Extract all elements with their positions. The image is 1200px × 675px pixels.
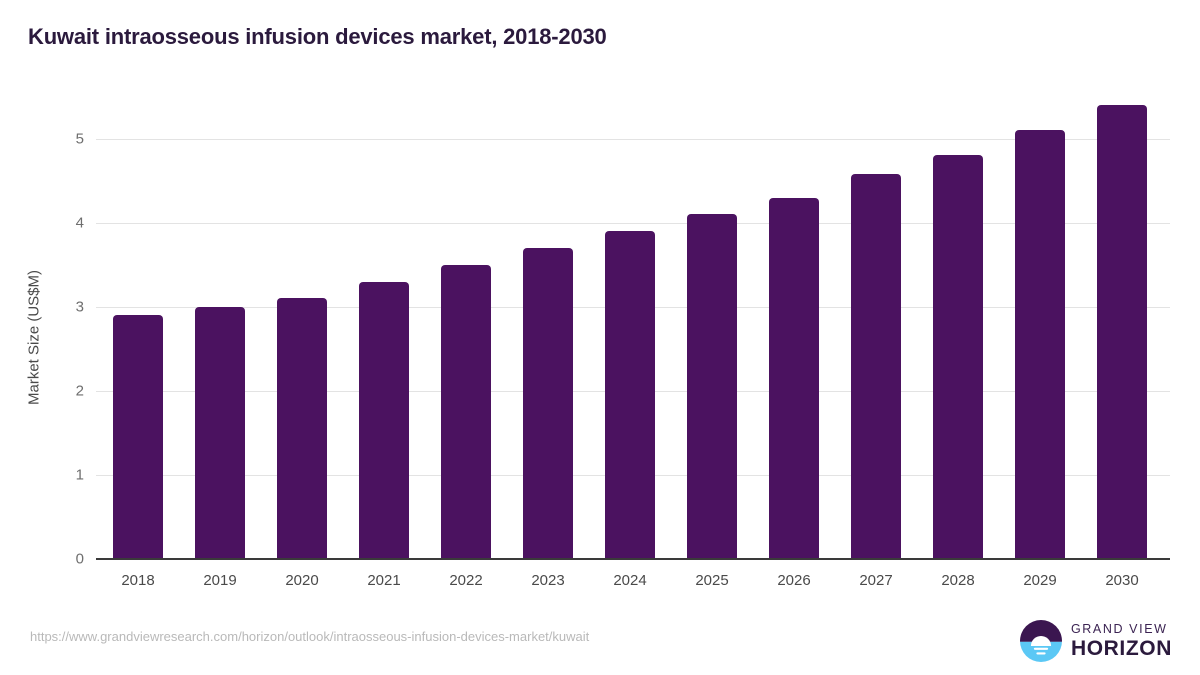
bar-2024[interactable]: [605, 231, 655, 559]
y-axis-tick-label: 1: [44, 466, 84, 483]
x-axis-tick-label-2018: 2018: [97, 572, 179, 589]
y-axis-tick-label: 2: [44, 382, 84, 399]
x-axis-tick-label-2029: 2029: [999, 572, 1081, 589]
grand-view-horizon-logo-icon: [1020, 620, 1062, 662]
bar-2020[interactable]: [277, 298, 327, 559]
x-axis-tick-label-2030: 2030: [1081, 572, 1163, 589]
x-axis-tick-label-2028: 2028: [917, 572, 999, 589]
x-axis-line: [96, 558, 1170, 560]
chart-page: Kuwait intraosseous infusion devices mar…: [0, 0, 1200, 675]
bar-2026[interactable]: [769, 198, 819, 559]
y-axis-tick-labels: 012345: [36, 100, 84, 559]
y-axis-tick-label: 3: [44, 298, 84, 315]
bar-2021[interactable]: [359, 282, 409, 559]
x-axis-tick-label-2025: 2025: [671, 572, 753, 589]
bar-2028[interactable]: [933, 155, 983, 559]
gridline: [96, 223, 1170, 224]
y-axis-tick-label: 5: [44, 130, 84, 147]
bar-2023[interactable]: [523, 248, 573, 559]
source-url[interactable]: https://www.grandviewresearch.com/horizo…: [30, 629, 589, 644]
x-axis-tick-label-2027: 2027: [835, 572, 917, 589]
y-axis-tick-label: 4: [44, 214, 84, 231]
bar-2030[interactable]: [1097, 105, 1147, 559]
x-axis-tick-label-2026: 2026: [753, 572, 835, 589]
bar-2018[interactable]: [113, 315, 163, 559]
y-axis-tick-label: 0: [44, 551, 84, 568]
x-axis-tick-label-2024: 2024: [589, 572, 671, 589]
bar-2027[interactable]: [851, 174, 901, 559]
bar-2019[interactable]: [195, 307, 245, 559]
gridline: [96, 139, 1170, 140]
logo-line-1: GRAND VIEW: [1071, 623, 1172, 636]
x-axis-tick-label-2021: 2021: [343, 572, 425, 589]
plot-area: [96, 100, 1170, 559]
x-axis-tick-label-2022: 2022: [425, 572, 507, 589]
bar-2029[interactable]: [1015, 130, 1065, 559]
bar-2025[interactable]: [687, 214, 737, 559]
x-axis-tick-label-2020: 2020: [261, 572, 343, 589]
logo-line-2: HORIZON: [1071, 638, 1172, 659]
x-axis-tick-label-2023: 2023: [507, 572, 589, 589]
brand-logo[interactable]: GRAND VIEW HORIZON: [1020, 620, 1172, 662]
x-axis-tick-label-2019: 2019: [179, 572, 261, 589]
logo-wordmark: GRAND VIEW HORIZON: [1071, 623, 1172, 660]
bar-2022[interactable]: [441, 265, 491, 559]
page-title: Kuwait intraosseous infusion devices mar…: [28, 24, 607, 50]
